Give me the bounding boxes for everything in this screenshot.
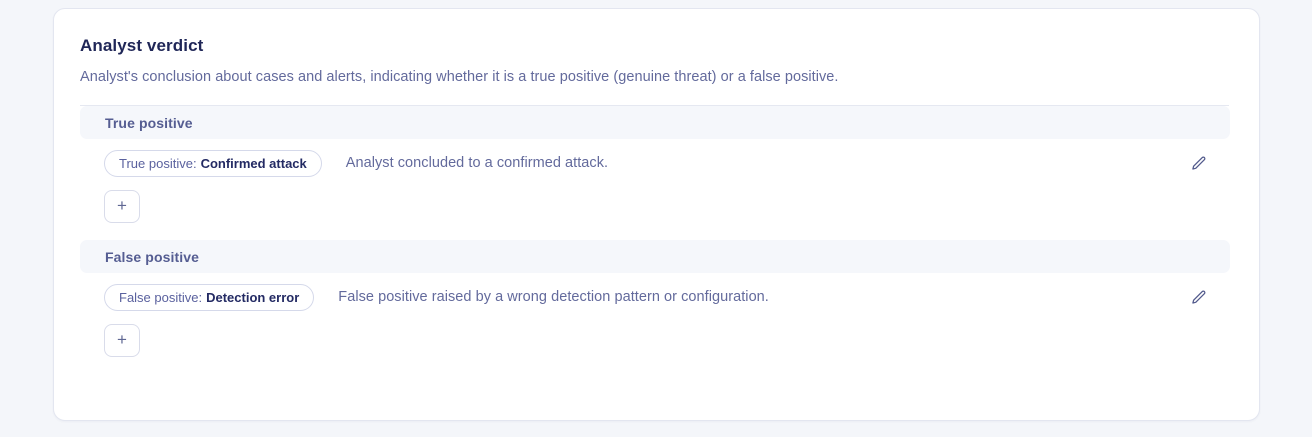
- verdict-chip-prefix: True positive:: [119, 156, 197, 171]
- group-header-true-positive: True positive: [80, 106, 1230, 139]
- page-root: Analyst verdict Analyst's conclusion abo…: [0, 0, 1312, 437]
- add-row-false-positive: +: [80, 321, 1233, 366]
- edit-verdict-button[interactable]: [1184, 283, 1212, 311]
- group-gap: [80, 232, 1233, 240]
- verdict-row: True positive: Confirmed attack Analyst …: [80, 139, 1230, 187]
- verdict-description: Analyst concluded to a confirmed attack.: [346, 155, 608, 171]
- verdict-group-false-positive: False positive False positive: Detection…: [80, 240, 1233, 366]
- verdict-chip-prefix: False positive:: [119, 290, 202, 305]
- group-body-false-positive: False positive: Detection error False po…: [80, 273, 1233, 366]
- verdict-group-true-positive: True positive True positive: Confirmed a…: [80, 106, 1233, 232]
- analyst-verdict-card: Analyst verdict Analyst's conclusion abo…: [53, 8, 1260, 421]
- add-verdict-button[interactable]: +: [104, 190, 140, 223]
- group-body-true-positive: True positive: Confirmed attack Analyst …: [80, 139, 1233, 232]
- group-header-label: False positive: [105, 249, 199, 265]
- pencil-icon: [1190, 155, 1207, 172]
- edit-verdict-button[interactable]: [1184, 149, 1212, 177]
- group-header-false-positive: False positive: [80, 240, 1230, 273]
- verdict-description: False positive raised by a wrong detecti…: [338, 289, 769, 305]
- pencil-icon: [1190, 289, 1207, 306]
- verdict-chip-value: Detection error: [206, 290, 299, 305]
- plus-icon: +: [117, 331, 127, 348]
- card-subtitle: Analyst's conclusion about cases and ale…: [80, 68, 1233, 86]
- card-content: Analyst verdict Analyst's conclusion abo…: [54, 9, 1259, 420]
- plus-icon: +: [117, 197, 127, 214]
- verdict-chip-value: Confirmed attack: [201, 156, 307, 171]
- group-header-label: True positive: [105, 115, 193, 131]
- verdict-chip[interactable]: True positive: Confirmed attack: [104, 150, 322, 177]
- verdict-row: False positive: Detection error False po…: [80, 273, 1230, 321]
- page-title: Analyst verdict: [80, 35, 1233, 57]
- verdict-chip[interactable]: False positive: Detection error: [104, 284, 314, 311]
- add-verdict-button[interactable]: +: [104, 324, 140, 357]
- add-row-true-positive: +: [80, 187, 1233, 232]
